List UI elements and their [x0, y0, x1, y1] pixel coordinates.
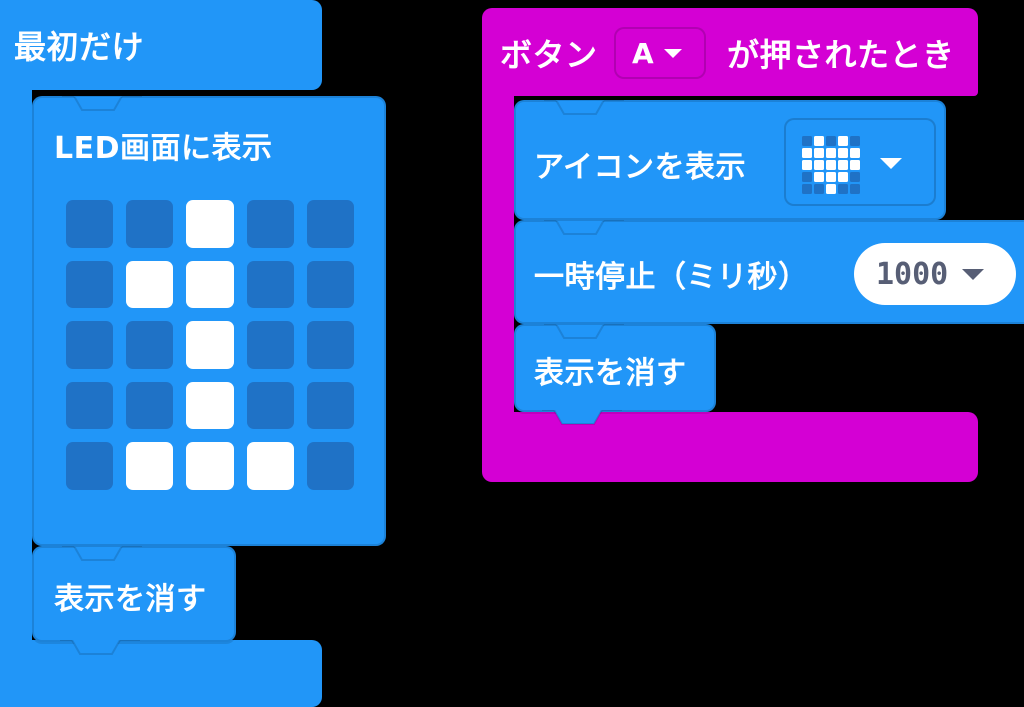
led-cell-4-3[interactable]	[247, 442, 294, 490]
clear-screen-1-bottom-bump	[60, 640, 140, 660]
led-cell-4-2[interactable]	[186, 442, 233, 490]
on-start-label: 最初だけ	[14, 22, 144, 68]
icon-cell-4-0	[802, 184, 812, 194]
icon-cell-4-4	[850, 184, 860, 194]
led-cell-1-3[interactable]	[247, 261, 294, 309]
led-cell-3-2[interactable]	[186, 382, 233, 430]
icon-cell-1-1	[814, 148, 824, 158]
led-cell-4-4[interactable]	[307, 442, 354, 490]
icon-cell-3-2	[826, 172, 836, 182]
pause-block[interactable]: 一時停止（ミリ秒） 1000	[514, 220, 1024, 324]
icon-cell-2-2	[826, 160, 836, 170]
show-leds-label: LED画面に表示	[54, 123, 273, 167]
icon-cell-2-4	[850, 160, 860, 170]
icon-cell-1-3	[838, 148, 848, 158]
show-icon-top-notch	[544, 100, 624, 118]
blocks-workspace[interactable]: 最初だけ LED画面に表示	[0, 0, 1024, 707]
show-icon-label: アイコンを表示	[534, 142, 746, 186]
led-cell-1-2[interactable]	[186, 261, 233, 309]
clear-screen-2-top-notch	[544, 324, 624, 342]
icon-cell-0-0	[802, 136, 812, 146]
icon-cell-0-4	[850, 136, 860, 146]
icon-cell-3-1	[814, 172, 824, 182]
icon-heart-matrix	[802, 136, 860, 194]
led-cell-1-0[interactable]	[66, 261, 113, 309]
pause-duration-field[interactable]: 1000	[854, 243, 1016, 305]
pause-top-notch	[544, 220, 624, 238]
pause-duration-value: 1000	[876, 257, 948, 292]
led-cell-2-0[interactable]	[66, 321, 113, 369]
led-matrix[interactable]	[66, 200, 354, 490]
clear-screen-1-top-notch	[62, 546, 142, 564]
icon-cell-0-3	[838, 136, 848, 146]
led-cell-1-4[interactable]	[307, 261, 354, 309]
on-button-a-left-arm	[482, 90, 514, 420]
button-selector-value: A	[632, 37, 654, 70]
icon-cell-3-4	[850, 172, 860, 182]
clear-screen-block-2[interactable]: 表示を消す	[514, 324, 716, 412]
chevron-down-icon[interactable]	[880, 158, 902, 169]
icon-cell-4-3	[838, 184, 848, 194]
led-cell-3-1[interactable]	[126, 382, 173, 430]
icon-cell-2-3	[838, 160, 848, 170]
led-cell-0-4[interactable]	[307, 200, 354, 248]
clear-screen-block-1[interactable]: 表示を消す	[32, 546, 236, 642]
led-cell-0-2[interactable]	[186, 200, 233, 248]
on-button-a-hat[interactable]: ボタン A が押されたとき	[482, 8, 978, 96]
chevron-down-icon[interactable]	[664, 49, 682, 58]
on-start-hat[interactable]: 最初だけ	[0, 0, 322, 90]
on-start-left-arm	[0, 86, 32, 646]
show-leds-top-notch	[62, 96, 142, 114]
button-selector-field[interactable]: A	[614, 27, 706, 79]
led-cell-2-2[interactable]	[186, 321, 233, 369]
icon-cell-2-1	[814, 160, 824, 170]
icon-cell-0-1	[814, 136, 824, 146]
icon-cell-4-2	[826, 184, 836, 194]
icon-cell-4-1	[814, 184, 824, 194]
icon-cell-1-4	[850, 148, 860, 158]
led-cell-2-4[interactable]	[307, 321, 354, 369]
led-cell-3-4[interactable]	[307, 382, 354, 430]
led-cell-2-3[interactable]	[247, 321, 294, 369]
chevron-down-icon[interactable]	[962, 269, 984, 280]
on-start-foot	[0, 640, 322, 707]
on-button-a-label-before: ボタン	[500, 30, 598, 76]
led-cell-2-1[interactable]	[126, 321, 173, 369]
clear-screen-1-label: 表示を消す	[54, 574, 207, 618]
icon-cell-1-0	[802, 148, 812, 158]
led-cell-1-1[interactable]	[126, 261, 173, 309]
led-cell-4-0[interactable]	[66, 442, 113, 490]
pause-label: 一時停止（ミリ秒）	[534, 252, 809, 296]
icon-cell-3-0	[802, 172, 812, 182]
icon-cell-3-3	[838, 172, 848, 182]
icon-cell-2-0	[802, 160, 812, 170]
led-cell-0-0[interactable]	[66, 200, 113, 248]
led-cell-3-3[interactable]	[247, 382, 294, 430]
icon-cell-1-2	[826, 148, 836, 158]
clear-screen-2-bottom-bump	[542, 410, 622, 430]
show-icon-block[interactable]: アイコンを表示	[514, 100, 946, 220]
icon-selector-field[interactable]	[784, 118, 936, 206]
led-cell-0-1[interactable]	[126, 200, 173, 248]
icon-cell-0-2	[826, 136, 836, 146]
led-cell-4-1[interactable]	[126, 442, 173, 490]
clear-screen-2-label: 表示を消す	[534, 348, 687, 392]
on-button-a-label-after: が押されたとき	[727, 30, 955, 76]
show-leds-block[interactable]: LED画面に表示	[32, 96, 386, 546]
led-cell-3-0[interactable]	[66, 382, 113, 430]
led-cell-0-3[interactable]	[247, 200, 294, 248]
